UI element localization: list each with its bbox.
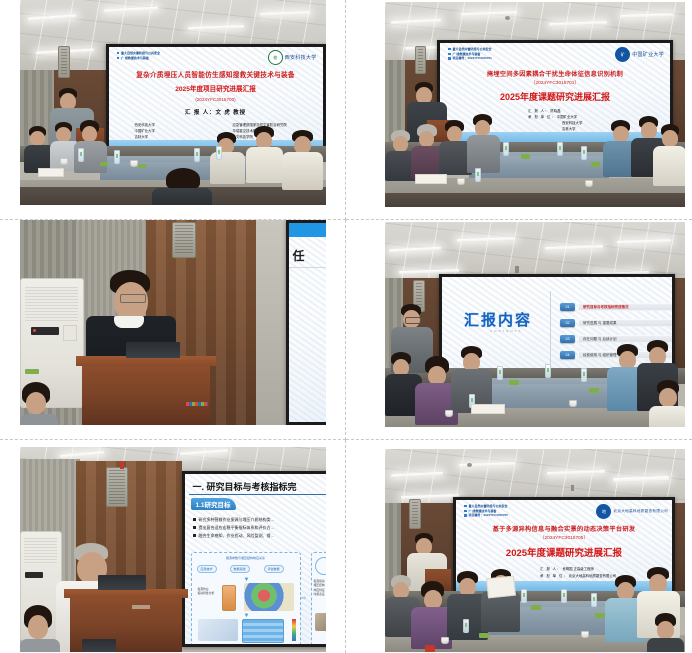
meeting-photo-4: 汇报内容 CONTENTS 01 研究目标与考核指标完成情况 02 研究进展 与… [385,222,685,427]
photo-cell-4[interactable]: 汇报内容 CONTENTS 01 研究目标与考核指标完成情况 02 研究进展 与… [346,220,692,440]
meta-value: 肖明国 正高级工程师 [562,567,593,571]
person-attendee [649,380,685,427]
slide6-title-line-1: 基于多源异构信息与融合实景的动态决策平台研发 [456,524,672,533]
agenda-number: 03 [560,335,575,343]
person-foreground [152,168,214,205]
person-attendee [246,126,284,182]
handout-paper [486,576,516,599]
projection-screen-5: 一. 研究目标与考核指标完 1.1研究目标 研究多种营救作业振源与埋压介质结构类… [182,471,326,647]
person-attendee [653,124,685,184]
slide5-chip-3: 评估数据 [264,565,284,573]
slide5-bullet-3: 融合生命感知、作业扰动、风险监测、搜… [193,532,275,540]
meta-value: 吉林大学 [562,127,576,131]
meta-value: 西安科技大学 [562,121,582,125]
photo-cell-5[interactable]: 一. 研究目标与考核指标完 1.1研究目标 研究多种营救作业振源与埋压介质结构类… [0,440,346,653]
photo-cell-3[interactable]: 任 [0,220,346,440]
slide5-chip-2: 数据基础 [230,565,250,573]
laptop [82,639,116,652]
shirt-collar [114,316,144,328]
slide1-title-line-2: 2025年度项目研究进展汇报 [109,83,323,93]
photo-grid: 重大自然灾害防控与公共安全 广 线救援技术与装备 校 西安科技大学 复杂介质埋压… [0,0,692,653]
slide6-title-line-2: 2025年度课题研究进展汇报 [456,545,672,559]
slide4-title: 汇报内容 [464,309,532,330]
agenda-item-1[interactable]: 01 研究目标与考核指标完成情况 [560,303,672,311]
meeting-photo-5: 一. 研究目标与考核指标完 1.1研究目标 研究多种营救作业振源与埋压介质结构类… [20,447,326,652]
meeting-photo-6: 重大自然灾害防控与公共安全 广 线救援技术与装备 项目编号：2024YFC301… [385,449,685,652]
slide2-header-line-3: 项目编号：2024YFC3015701 [453,56,492,60]
person-attendee [647,613,685,652]
slide1-project-code: (2024YFC3015700) [109,97,323,102]
projection-screen-3: 任 [286,220,326,425]
person-attendee [467,114,501,172]
slide3-partial-text: 任 [293,247,305,264]
laptop [98,575,146,590]
slide1-presenter-label: 汇 报 人： [185,110,216,116]
slide2-logo-name: 中国矿业大学 [632,51,664,58]
slide4-subtitle: CONTENTS [490,329,523,333]
meta-label: 汇 报 人： [540,567,561,571]
slide2-title-line-1: 掩埋空间多因素耦合干扰生命体征信息识别机制 [440,69,670,78]
person-attendee [210,132,246,182]
agenda-number: 01 [560,303,575,311]
photo-cell-6[interactable]: 重大自然灾害防控与公共安全 广 线救援技术与装备 项目编号：2024YFC301… [346,440,692,653]
slide2-header-line-1: 重大自然灾害防控与公共安全 [453,47,492,51]
ceiling-speaker-icon [415,46,426,74]
slide6-logo-name: 北京大地高科地质勘查有限公司 [613,509,668,514]
eyeglasses-icon [120,294,146,303]
slide1-header-line-2: 广 线救援技术与装备 [121,56,149,60]
agenda-number: 04 [560,351,575,359]
photo-grid-page: 重大自然灾害防控与公共安全 广 线救援技术与装备 校 西安科技大学 复杂介质埋压… [0,0,692,653]
slide5-bullet-2: 提出复合适应宏稳平衡指标体系和评价方… [193,524,275,532]
slide2-university-logo: 矿 中国矿业大学 [615,47,664,62]
slide5-heading: 一. 研究目标与考核指标完 [193,480,297,493]
slide5-panel-title: 振源参数与埋压结构响应关系 [192,556,300,560]
photo-cell-1[interactable]: 重大自然灾害防控与公共安全 广 线救援技术与装备 校 西安科技大学 复杂介质埋压… [0,0,346,220]
agenda-text: 研究目标与考核指标完成情况 [578,303,672,311]
meeting-photo-2: 重大自然灾害防控与公共安全 广 线救援技术与装备 项目编号：2024YFC301… [385,2,685,207]
meta-label: 承 担 单 位： [540,574,568,578]
slide1-header-line-1: 重大自然灾害防控与公共安全 [121,51,160,55]
slide1-logo-name: 西安科技大学 [285,54,317,61]
meta-label: 承 担 单 位： [528,115,556,119]
laptop [126,342,180,358]
agenda-item-2[interactable]: 02 研究进展 与 重要成果 [560,319,672,327]
podium [82,362,210,425]
slide5-section-tag: 1.1研究目标 [191,498,236,510]
slide1-university-logo: 校 西安科技大学 [268,50,317,65]
slide5-label-right-4: 时频表征 [314,592,325,596]
person-attendee [20,605,62,652]
meta-value: 陈晓晶 [550,109,560,113]
eyeglasses-icon [405,317,421,324]
podium-controls [186,402,208,406]
slide5-label-left-2: 振动特性分析 [198,591,215,595]
ceiling-speaker-icon [172,222,196,258]
ceiling-speaker-icon [58,46,70,78]
slide6-header-line-1: 重大自然灾害防控与公共安全 [469,504,508,508]
slide6-header-line-3: 项目编号：2024YFC3015705 [469,513,508,517]
ceiling-speaker-icon [409,499,421,529]
photo-cell-2[interactable]: 重大自然灾害防控与公共安全 广 线救援技术与装备 项目编号：2024YFC301… [346,0,692,220]
agenda-number: 02 [560,319,575,327]
slide5-bullet-1: 研究多种营救作业振源与埋压介质结构类… [193,516,275,524]
slide6-project-code: （2024YFC3015705） [456,534,672,541]
meta-label: 汇 报 人： [528,109,549,113]
meeting-photo-3: 任 [20,220,326,425]
ceiling-speaker-icon [106,467,128,507]
slide5-chip-1: 应用技术 [197,565,217,573]
slide1-presenter-name: 文 虎 教授 [216,110,247,116]
slide6-company-logo: 地 北京大地高科地质勘查有限公司 [596,504,668,519]
person-attendee [20,382,60,425]
meta-value: 中国矿业大学 [557,115,577,119]
agenda-text: 研究进展 与 重要成果 [578,319,672,327]
slide2-project-code: （2024YFC3015701） [440,79,670,86]
meeting-photo-1: 重大自然灾害防控与公共安全 广 线救援技术与装备 校 西安科技大学 复杂介质埋压… [20,0,326,205]
person-attendee [282,130,324,188]
slide2-title-line-2: 2025年度课题研究进展汇报 [440,90,670,103]
slide1-title-line-1: 复杂介质埋压人员智能仿生感知搜救关键技术与装备 [109,69,323,79]
